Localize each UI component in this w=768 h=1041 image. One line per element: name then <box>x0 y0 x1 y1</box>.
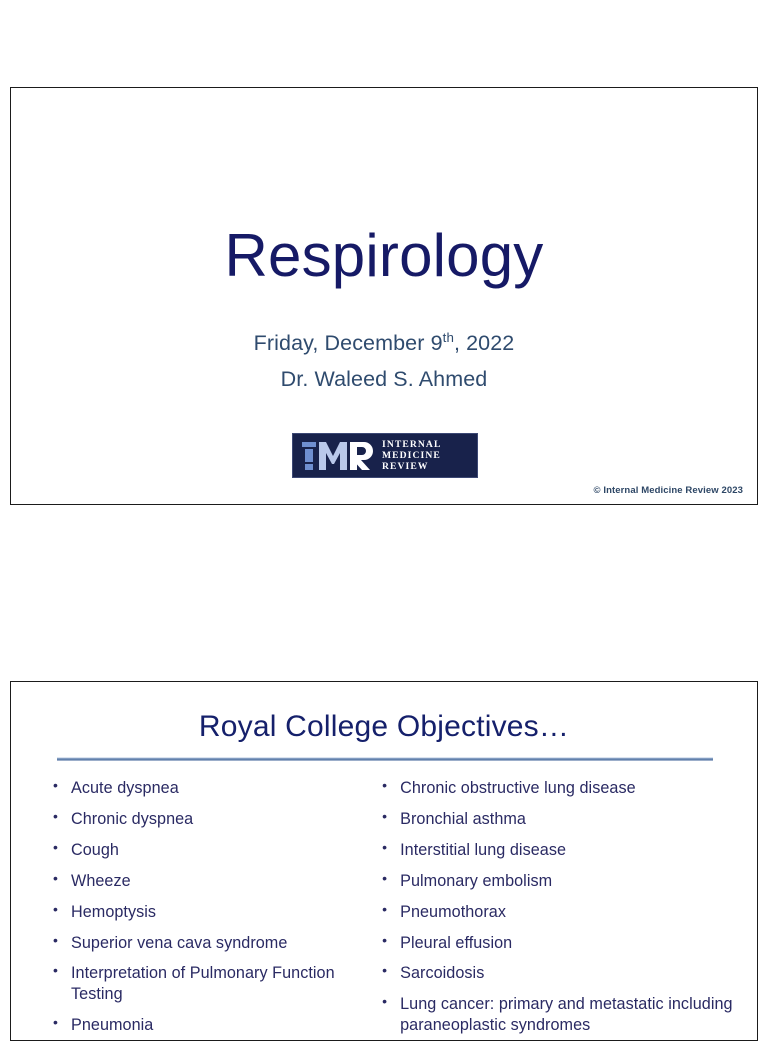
date-ordinal-suffix: th <box>443 330 454 345</box>
objectives-left-column: Acute dyspneaChronic dyspneaCoughWheezeH… <box>11 778 350 1041</box>
list-item: Chronic obstructive lung disease <box>378 778 757 798</box>
list-item: Chronic dyspnea <box>49 809 350 829</box>
logo-line-review: REVIEW <box>382 461 441 472</box>
list-item: Wheeze <box>49 871 350 891</box>
list-item: Interstitial lung disease <box>378 840 757 860</box>
presenter-name: Dr. Waleed S. Ahmed <box>11 367 757 392</box>
date-text: Friday, December 9 <box>254 331 443 355</box>
objectives-left-list: Acute dyspneaChronic dyspneaCoughWheezeH… <box>49 778 350 1035</box>
objectives-right-column: Chronic obstructive lung diseaseBronchia… <box>350 778 757 1041</box>
date-year: , 2022 <box>454 331 514 355</box>
logo-line-internal: INTERNAL <box>382 439 441 450</box>
list-item: Interpretation of Pulmonary Function Tes… <box>49 963 350 1004</box>
imr-logo-wordmark: INTERNAL MEDICINE REVIEW <box>382 439 441 473</box>
imr-monogram-icon <box>301 441 375 471</box>
title-slide: Respirology Friday, December 9th, 2022 D… <box>10 87 758 505</box>
list-item: Pleural effusion <box>378 933 757 953</box>
list-item: Acute dyspnea <box>49 778 350 798</box>
list-item: Sarcoidosis <box>378 963 757 983</box>
list-item: Hemoptysis <box>49 902 350 922</box>
title-divider <box>57 757 713 761</box>
page-title: Respirology <box>11 224 757 287</box>
list-item: Pneumonia <box>49 1015 350 1035</box>
list-item: Pneumothorax <box>378 902 757 922</box>
objectives-title: Royal College Objectives… <box>11 710 757 744</box>
objectives-slide: Royal College Objectives… Acute dyspneaC… <box>10 681 758 1041</box>
imr-logo: INTERNAL MEDICINE REVIEW <box>292 433 478 478</box>
objectives-columns: Acute dyspneaChronic dyspneaCoughWheezeH… <box>11 778 757 1041</box>
list-item: Cough <box>49 840 350 860</box>
objectives-right-list: Chronic obstructive lung diseaseBronchia… <box>378 778 757 1035</box>
list-item: Pulmonary embolism <box>378 871 757 891</box>
copyright-notice: © Internal Medicine Review 2023 <box>594 485 744 496</box>
list-item: Bronchial asthma <box>378 809 757 829</box>
list-item: Superior vena cava syndrome <box>49 933 350 953</box>
presentation-date: Friday, December 9th, 2022 <box>11 331 757 356</box>
list-item: Lung cancer: primary and metastatic incl… <box>378 994 757 1035</box>
logo-line-medicine: MEDICINE <box>382 450 441 461</box>
